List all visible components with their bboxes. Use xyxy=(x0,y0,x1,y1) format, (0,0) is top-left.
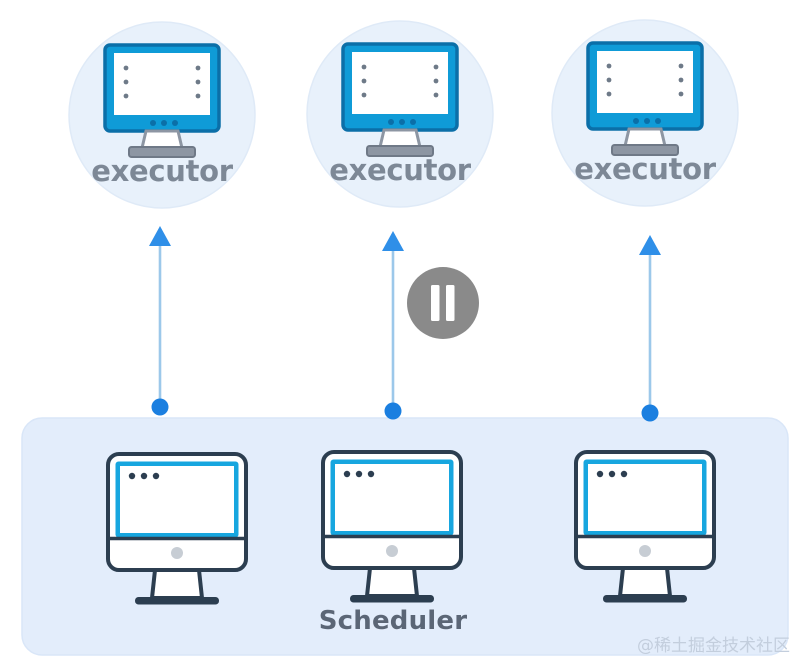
arrow-head-icon xyxy=(382,231,404,251)
arrow-origin-dot xyxy=(385,403,402,420)
arrow-executor-1 xyxy=(149,226,171,416)
pause-badge-circle xyxy=(407,267,479,339)
watermark: @稀土掘金技术社区 xyxy=(637,636,790,656)
architecture-diagram: executor executor executor xyxy=(0,0,805,668)
arrow-head-icon xyxy=(149,226,171,246)
executor-group: executor executor executor xyxy=(69,20,738,208)
arrow-head-icon xyxy=(639,235,661,255)
arrow-executor-2 xyxy=(382,231,404,420)
arrow-group xyxy=(149,226,661,422)
executor-node-1[interactable]: executor xyxy=(69,22,255,208)
executor-label: executor xyxy=(574,152,717,186)
executor-label: executor xyxy=(91,154,234,188)
executor-node-3[interactable]: executor xyxy=(552,20,738,206)
arrow-origin-dot xyxy=(642,405,659,422)
diagram-canvas: executor executor executor xyxy=(0,0,805,668)
scheduler-label: Scheduler xyxy=(319,606,468,636)
pause-badge[interactable] xyxy=(407,267,479,339)
scheduler-node-group xyxy=(108,452,714,605)
arrow-executor-3 xyxy=(639,235,661,422)
executor-label: executor xyxy=(329,153,472,187)
arrow-origin-dot xyxy=(152,399,169,416)
executor-node-2[interactable]: executor xyxy=(307,21,493,207)
